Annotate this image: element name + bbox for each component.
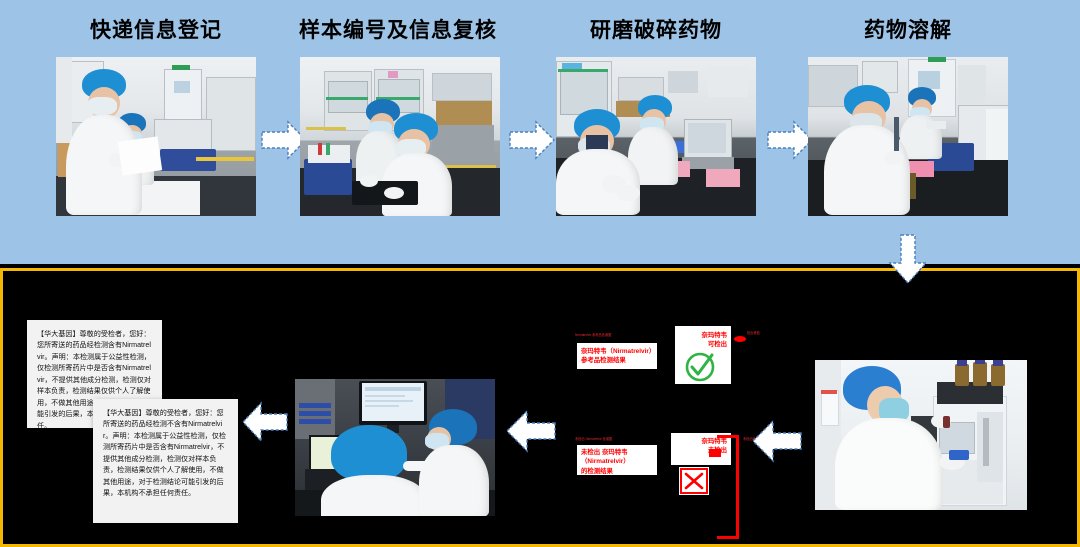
- step-photo-2: [300, 57, 500, 216]
- result-positive-verdict: 奈玛特韦 可检出: [679, 331, 727, 350]
- arrow-bottom-1: [241, 401, 289, 443]
- workflow-poster: 快递信息登记 样本编号及信息复核 研磨破碎药物 药物溶解: [0, 0, 1080, 547]
- result-positive-chrom-label: 奈玛特韦（Nirmatrelvir） 参考品检测结果: [581, 347, 657, 366]
- arrow-top-2: [508, 120, 556, 160]
- instrument-photo: [815, 360, 1027, 510]
- arrow-down: [888, 233, 928, 285]
- check-icon: [683, 351, 719, 388]
- step-title-2: 样本编号及信息复核: [283, 14, 513, 44]
- bottom-result-panel: 【华大基因】尊敬的受检者，您好：您所寄送的药品经检测含有Nirmatrelvir…: [0, 268, 1080, 547]
- arrow-bottom-3: [751, 419, 803, 463]
- report-negative: 【华大基因】尊敬的受检者，您好：您所寄送的药品经检测不含有Nirmatrelvi…: [93, 399, 238, 523]
- step-photo-1: [56, 57, 256, 216]
- arrow-bottom-2: [505, 409, 557, 453]
- analysis-photo: [295, 379, 495, 516]
- result-negative-chrom-label: 未检出 奈玛特韦 （Nirmatrelvir） 的检测结果: [581, 448, 657, 476]
- step-title-4: 药物溶解: [808, 14, 1008, 44]
- top-workflow-panel: 快递信息登记 样本编号及信息复核 研磨破碎药物 药物溶解: [0, 0, 1080, 264]
- step-photo-3: [556, 57, 756, 216]
- step-photo-4: [808, 57, 1008, 216]
- step-title-3: 研磨破碎药物: [556, 14, 756, 44]
- step-title-1: 快递信息登记: [56, 14, 256, 44]
- result-positive-axis-label: Nirmatrelvir 参考品色谱图: [575, 333, 641, 337]
- report-negative-text: 【华大基因】尊敬的受检者，您好：您所寄送的药品经检测不含有Nirmatrelvi…: [103, 408, 229, 500]
- cross-icon: [679, 467, 709, 500]
- result-negative-axis-label: 未检出 Nirmatrelvir 色谱图: [575, 437, 645, 441]
- arrow-top-3: [766, 120, 814, 160]
